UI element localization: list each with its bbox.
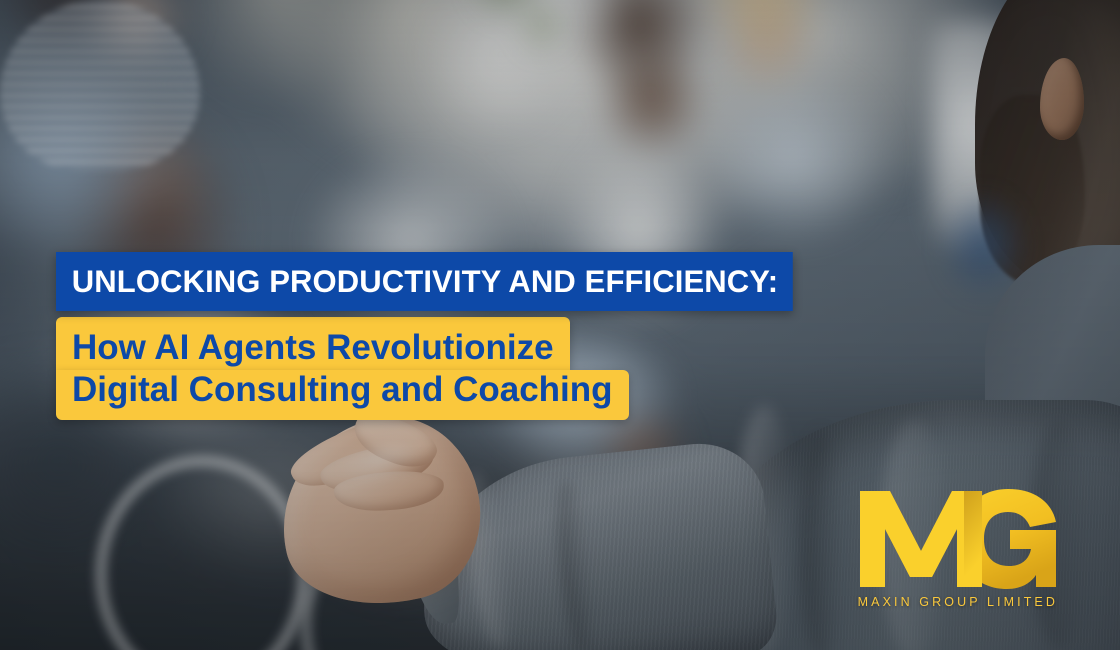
- subheadline: How AI Agents Revolutionize Digital Cons…: [56, 317, 804, 420]
- mg-monogram-icon: [860, 489, 1056, 589]
- logo-monogram-mg: [860, 489, 1056, 589]
- logo-company-name: MAXIN GROUP LIMITED: [858, 596, 1058, 609]
- subheadline-line-1: How AI Agents Revolutionize: [56, 317, 570, 371]
- hero-banner: UNLOCKING PRODUCTIVITY AND EFFICIENCY: H…: [0, 0, 1120, 650]
- brand-logo: MAXIN GROUP LIMITED: [858, 489, 1058, 609]
- headline: UNLOCKING PRODUCTIVITY AND EFFICIENCY:: [56, 252, 793, 311]
- logo-letter-m-highlight: [860, 491, 964, 587]
- subheadline-line-2: Digital Consulting and Coaching: [56, 370, 629, 420]
- title-block: UNLOCKING PRODUCTIVITY AND EFFICIENCY: H…: [56, 252, 804, 420]
